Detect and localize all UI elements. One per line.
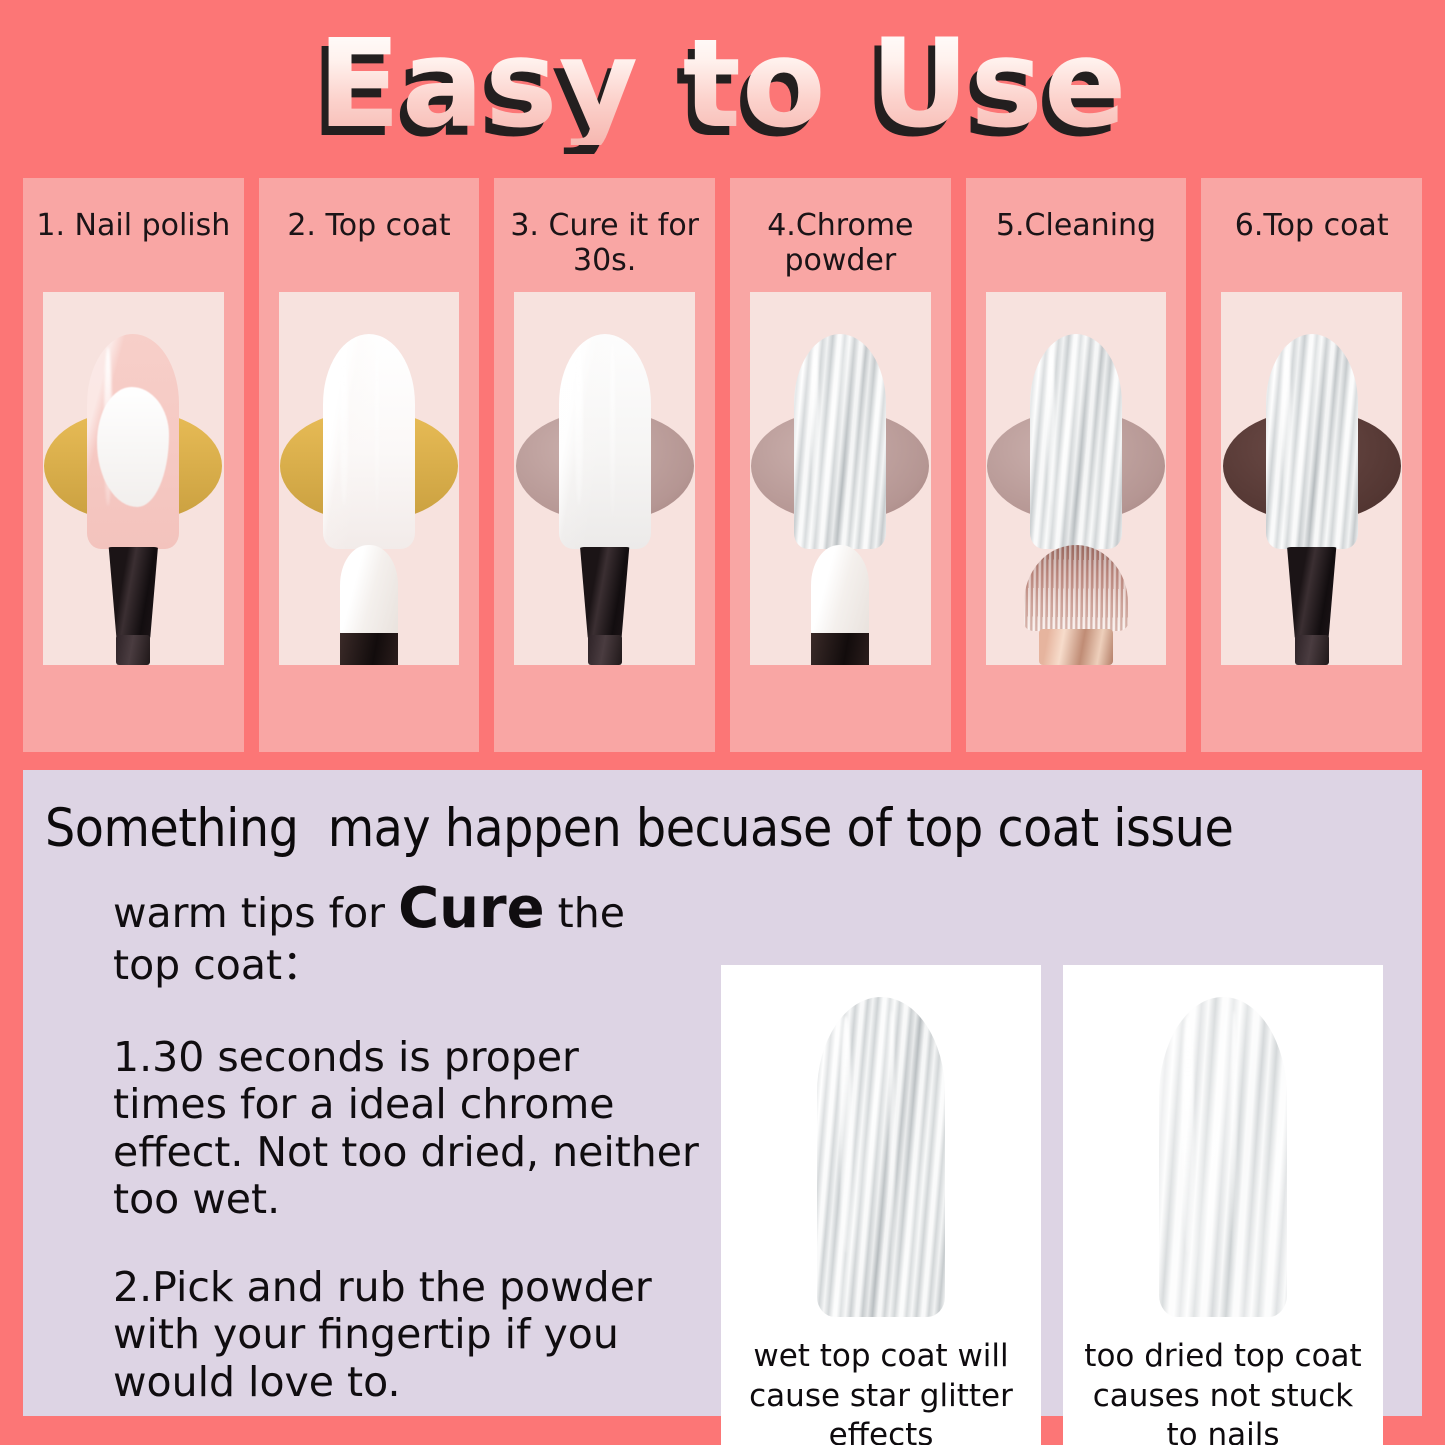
rose-gold-brush-icon (1021, 545, 1131, 665)
chrome-nail-dull-icon (1159, 997, 1287, 1317)
step-label-5: 5.Cleaning (966, 178, 1187, 270)
tip-item-1: 1.30 seconds is proper times for a ideal… (113, 1034, 703, 1224)
result-caption-dried: too dried top coat causes not stuck to n… (1063, 1333, 1383, 1445)
chrome-nail-glitter-icon (817, 997, 945, 1317)
tips-column: warm tips for Cure the top coat： 1.30 se… (43, 877, 703, 1445)
nail-glint-secondary (375, 343, 380, 519)
result-art-wet (721, 983, 1041, 1333)
step-card-6: 6.Top coat (1201, 178, 1422, 752)
chrome-nail-icon (1030, 334, 1122, 549)
step-photo-2 (279, 292, 460, 665)
result-card-wet: wet top coat will cause star glitter eff… (721, 965, 1041, 1445)
step-photo-5 (986, 292, 1167, 665)
tips-intro-emphasis: Cure (398, 876, 545, 941)
white-applicator-icon (810, 545, 870, 665)
step-label-1: 1. Nail polish (23, 178, 244, 270)
steps-strip: 1. Nail polish 2. Top coat (23, 178, 1422, 752)
panel-heading: Something may happen becuase of top coat… (23, 770, 1422, 859)
step-label-4: 4.Chrome powder (730, 178, 951, 270)
tips-intro: warm tips for Cure the top coat： (113, 877, 703, 990)
nail-glint (340, 347, 348, 506)
black-brush-icon (1284, 547, 1340, 665)
page-title: Easy to Use (317, 23, 1127, 145)
step-card-5: 5.Cleaning (966, 178, 1187, 752)
step-card-1: 1. Nail polish (23, 178, 244, 752)
title-banner: Easy to Use (0, 14, 1445, 154)
nail-glint (840, 1016, 852, 1253)
step-label-3: 3. Cure it for 30s. (494, 178, 715, 270)
step-photo-4 (750, 292, 931, 665)
step-card-3: 3. Cure it for 30s. (494, 178, 715, 752)
poster-root: Easy to Use 1. Nail polish 2. Top coat (0, 0, 1445, 1445)
tips-intro-before: warm tips for (113, 889, 398, 937)
result-art-dried (1063, 983, 1383, 1333)
nail-glint (1182, 1016, 1194, 1253)
nail-glint-secondary (889, 1010, 895, 1272)
black-brush-icon (577, 547, 633, 665)
nail-glint (1047, 347, 1055, 506)
top-coat-issue-panel: Something may happen becuase of top coat… (23, 770, 1422, 1416)
panel-body: warm tips for Cure the top coat： 1.30 se… (23, 859, 1422, 1445)
result-cards: wet top coat will cause star glitter eff… (721, 877, 1383, 1445)
step-photo-3 (514, 292, 695, 665)
nail-glint-secondary (610, 343, 615, 519)
nail-glint-secondary (1231, 1010, 1237, 1272)
nail-glint (811, 347, 819, 506)
white-cured-nail-icon (559, 334, 651, 549)
black-brush-icon (105, 547, 161, 665)
step-photo-1 (43, 292, 224, 665)
step-label-6: 6.Top coat (1201, 178, 1422, 270)
result-card-dried: too dried top coat causes not stuck to n… (1063, 965, 1383, 1445)
chrome-nail-icon (1266, 334, 1358, 549)
chrome-nail-icon (794, 334, 886, 549)
white-nail-icon (323, 334, 415, 549)
white-gel-brush-icon (339, 545, 399, 665)
step-card-4: 4.Chrome powder (730, 178, 951, 752)
step-label-2: 2. Top coat (259, 178, 480, 270)
nail-glint (575, 347, 583, 506)
result-caption-wet: wet top coat will cause star glitter eff… (721, 1333, 1041, 1445)
tip-item-2: 2.Pick and rub the powder with your fing… (113, 1264, 703, 1407)
nail-glint (1282, 347, 1290, 506)
step-card-2: 2. Top coat (259, 178, 480, 752)
step-photo-6 (1221, 292, 1402, 665)
